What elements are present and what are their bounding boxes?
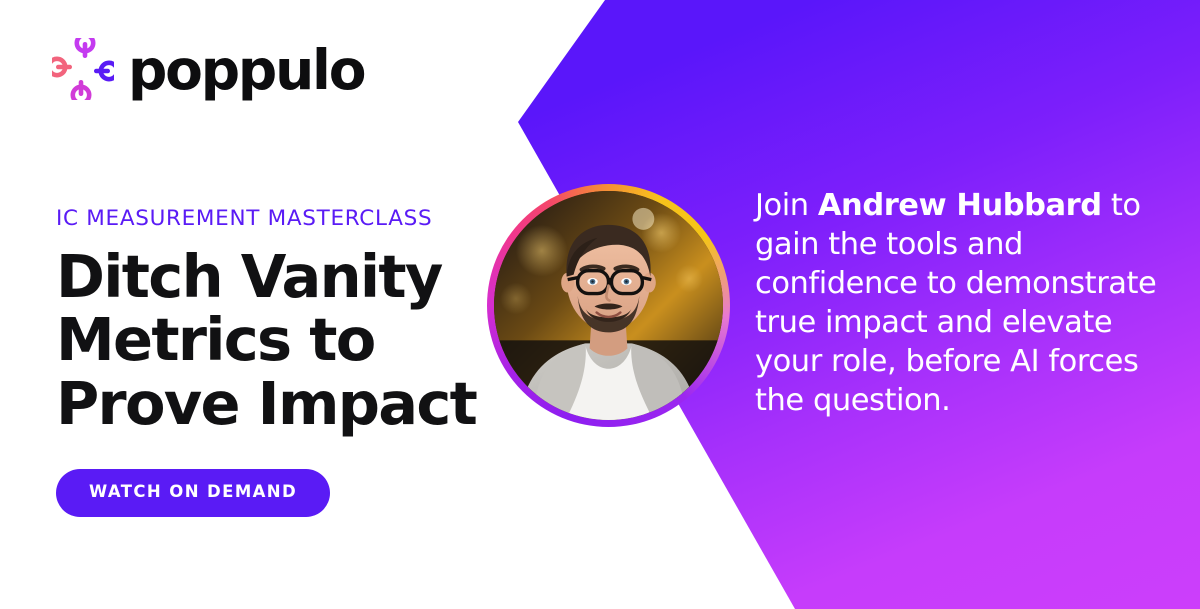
body-intro: Join	[755, 188, 818, 223]
headline-line-1: Ditch Vanity	[56, 242, 442, 311]
page-title: Ditch Vanity Metrics to Prove Impact	[56, 245, 486, 435]
speaker-name: Andrew Hubbard	[818, 188, 1102, 223]
right-content-column: Join Andrew Hubbard to gain the tools an…	[755, 186, 1163, 420]
eyebrow-label: IC MEASUREMENT MASTERCLASS	[56, 206, 486, 231]
poppulo-wordmark: poppulo	[128, 43, 364, 98]
left-content-column: IC MEASUREMENT MASTERCLASS Ditch Vanity …	[56, 206, 486, 517]
watch-on-demand-button[interactable]: WATCH ON DEMAND	[56, 469, 330, 517]
avatar	[494, 191, 723, 420]
avatar-gradient-ring	[487, 184, 730, 427]
webinar-promo-banner: poppulo IC MEASUREMENT MASTERCLASS Ditch…	[0, 0, 1200, 609]
headline-line-3: Prove Impact	[56, 369, 476, 438]
headline-line-2: Metrics to	[56, 305, 375, 374]
poppulo-rosette-mark-icon	[52, 38, 114, 100]
speaker-description: Join Andrew Hubbard to gain the tools an…	[755, 186, 1163, 420]
poppulo-logo[interactable]: poppulo	[52, 38, 364, 100]
headshot-illustration	[494, 191, 723, 420]
